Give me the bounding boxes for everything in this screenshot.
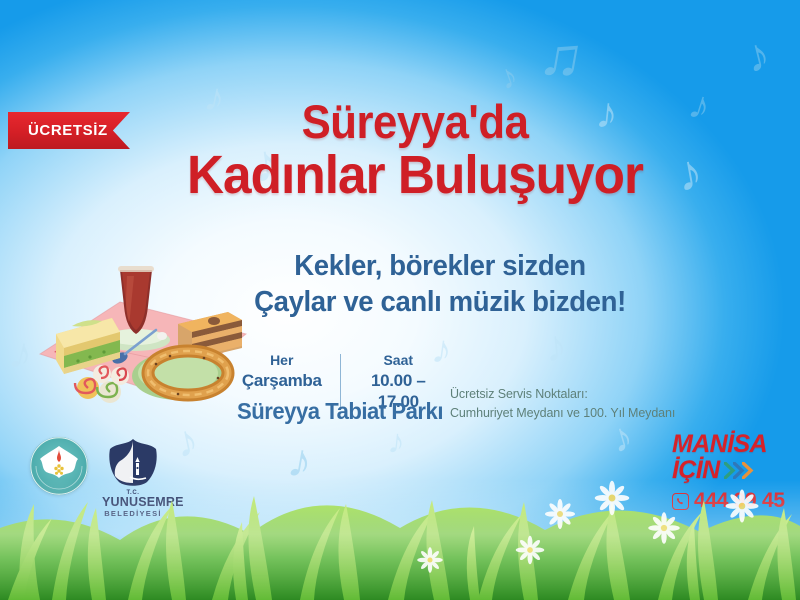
headline-block: Süreyya'da Kadınlar Buluşuyor: [150, 98, 680, 203]
green-grass-with-daisies: [0, 410, 800, 600]
subtitle-line-1: Kekler, börekler sizden: [203, 248, 678, 284]
poster-canvas: ♪ ♪ ♫ ♪ ♪ ♪ ♪ ♪ ♪ ♪ ♪ ♪ ♪ ♪ ♪ ÜCRETSİZ S…: [0, 0, 800, 600]
free-badge-ribbon: ÜCRETSİZ: [8, 112, 130, 149]
title-line-2: Kadınlar Buluşuyor: [163, 147, 667, 203]
title-line-1: Süreyya'da: [169, 98, 662, 145]
schedule-time-label: Saat: [349, 352, 449, 370]
subtitle-line-2: Çaylar ve canlı müzik bizden!: [203, 284, 678, 320]
music-note-icon: ♪: [741, 30, 774, 80]
music-note-icon: ♪: [684, 84, 715, 128]
free-badge-label: ÜCRETSİZ: [8, 122, 108, 139]
turkish-tea-and-pastries-illustration: [28, 248, 258, 408]
music-note-icon: ♪: [543, 324, 569, 370]
music-note-icon: ♪: [495, 58, 523, 96]
subtitle-block: Kekler, börekler sizden Çaylar ve canlı …: [190, 248, 690, 321]
music-note-icon: ♫: [535, 25, 588, 90]
service-points-title: Ücretsiz Servis Noktaları:: [450, 385, 700, 404]
